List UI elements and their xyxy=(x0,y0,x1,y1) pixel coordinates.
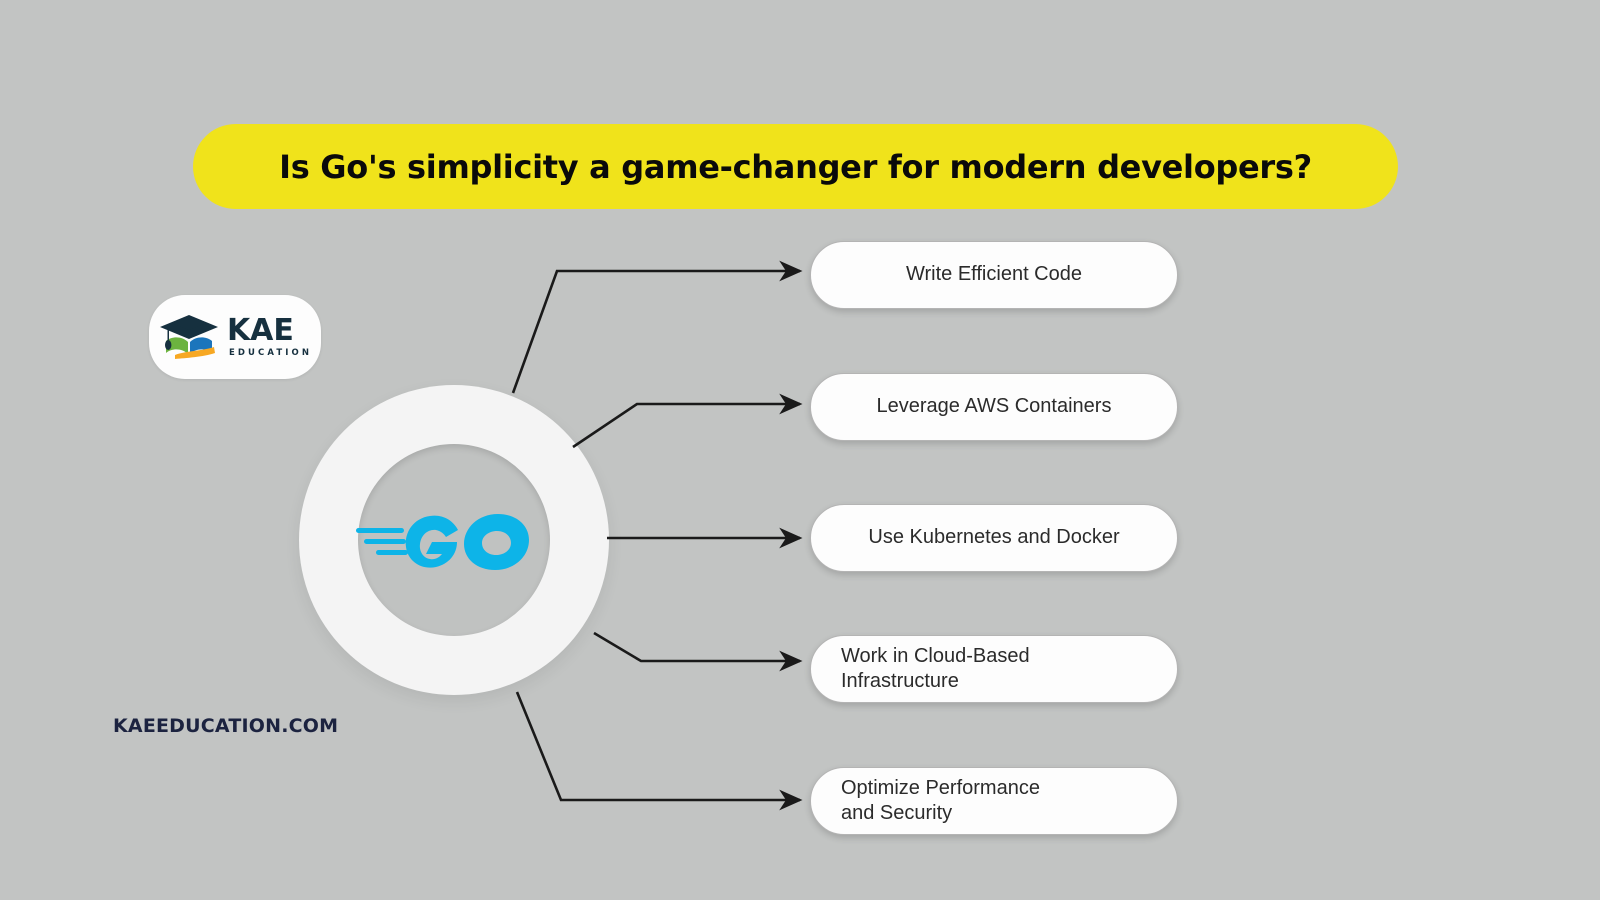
node-label-2: Leverage AWS Containers xyxy=(811,394,1177,419)
connector-5 xyxy=(517,692,800,800)
brand-logo-badge: KAE EDUCATION xyxy=(149,295,321,379)
connector-4 xyxy=(594,633,800,661)
node-label-3: Use Kubernetes and Docker xyxy=(811,525,1177,550)
title-banner: Is Go's simplicity a game-changer for mo… xyxy=(193,124,1398,209)
node-box-5[interactable]: Optimize Performance and Security xyxy=(810,767,1178,835)
brand-subtitle: EDUCATION xyxy=(229,349,312,358)
node-box-3[interactable]: Use Kubernetes and Docker xyxy=(810,504,1178,572)
go-language-logo xyxy=(299,385,609,695)
node-label-4: Work in Cloud-Based Infrastructure xyxy=(811,644,1177,694)
page-title: Is Go's simplicity a game-changer for mo… xyxy=(279,148,1312,186)
node-label-5: Optimize Performance and Security xyxy=(811,776,1177,826)
brand-name: KAE xyxy=(227,316,294,346)
infographic-canvas: Is Go's simplicity a game-changer for mo… xyxy=(0,0,1600,900)
center-hub xyxy=(299,385,609,695)
node-label-1: Write Efficient Code xyxy=(811,262,1177,287)
node-box-4[interactable]: Work in Cloud-Based Infrastructure xyxy=(810,635,1178,703)
site-url-text: KAEEDUCATION.COM xyxy=(113,715,338,737)
connector-1 xyxy=(513,271,800,393)
node-box-1[interactable]: Write Efficient Code xyxy=(810,241,1178,309)
graduation-cap-book-icon xyxy=(158,311,220,364)
node-box-2[interactable]: Leverage AWS Containers xyxy=(810,373,1178,441)
